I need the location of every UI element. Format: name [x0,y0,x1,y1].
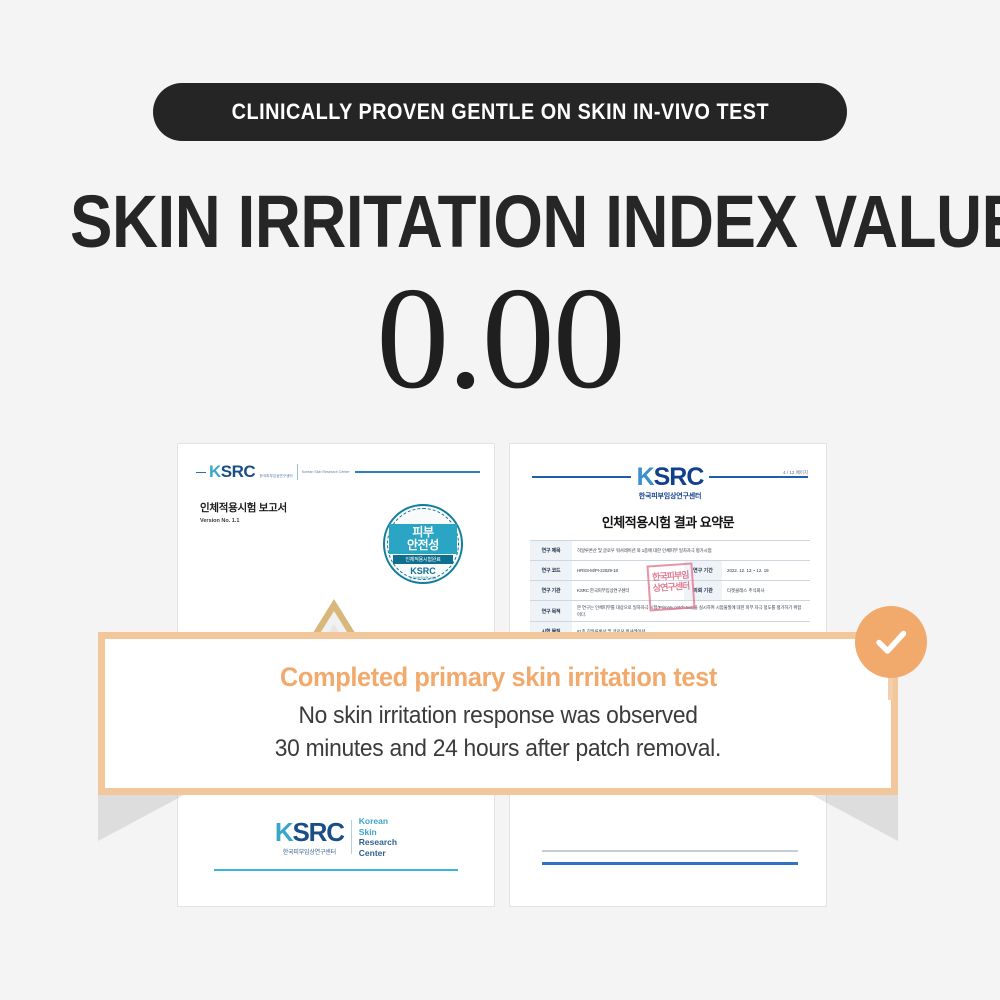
row-value-secondary: 티젯클래스 주식회사 [722,581,810,600]
row-label: 연구 코드 [530,561,572,580]
callout-shadow-left [98,795,184,841]
ksrc-korean-name: 한국피부임상연구센터 [260,474,293,478]
left-doc-footer-logo: KSRC 한국피부임상연구센터 Korean Skin Research Cen… [178,816,494,858]
official-stamp: 한국피부임상연구센터 [646,562,695,611]
skin-safety-seal: 피부안전성 인체적용시험완료 KSRC 한국피부임상연구센터 [383,504,463,584]
result-callout: Completed primary skin irritation test N… [98,632,898,795]
table-row: 연구 제목 히알루론산 및 글로우 워셔레이션 외 1종에 대한 인체피부 일차… [530,540,810,560]
left-doc-title: 인체적용시험 보고서 [200,500,287,515]
footer-korean-name: 한국피부임상연구센터 [275,847,344,856]
right-doc-footer-rule-top [542,850,798,852]
left-doc-footer-rule [214,869,458,871]
irritation-index-value: 0.00 [0,258,1000,418]
clinical-proof-badge-label: CLINICALLY PROVEN GENTLE ON SKIN IN-VIVO… [231,99,769,125]
row-label: 연구 기관 [530,581,572,600]
logo-divider [297,464,298,480]
seal-logo: KSRC 한국피부임상연구센터 [383,566,463,580]
footer-logo-divider [351,820,352,854]
clinical-proof-badge: CLINICALLY PROVEN GENTLE ON SKIN IN-VIVO… [153,83,847,141]
callout-shadow-right [812,795,898,841]
right-doc-header: KSRC 한국피부임상연구센터 4 / 12 페이지 [532,464,808,504]
page-number-mark: 4 / 12 페이지 [783,470,808,476]
logo-rule-left [196,472,206,473]
right-doc-footer-rule-bottom [542,862,798,865]
infographic-page: CLINICALLY PROVEN GENTLE ON SKIN IN-VIVO… [0,0,1000,1000]
seal-strip-text: 인체적용시험완료 [393,555,453,564]
page-title: SKIN IRRITATION INDEX VALUE [70,182,930,262]
seal-main-text: 피부안전성 [389,524,457,554]
ksrc-english-name: Korean Skin Research Center [302,470,350,475]
callout-line-1: No skin irritation response was observed [298,699,697,732]
row-label: 연구 제목 [530,541,572,560]
footer-english-name: Korean Skin Research Center [359,816,397,858]
logo-rule-right [355,471,480,472]
callout-title: Completed primary skin irritation test [279,662,716,693]
ksrc-wordmark: KSRC 한국피부임상연구센터 [209,462,293,482]
right-doc-title: 인체적용시험 결과 요약문 [510,512,826,531]
left-doc-version: Version No. 1.1 [200,518,239,524]
callout-line-2: 30 minutes and 24 hours after patch remo… [275,732,721,765]
right-ksrc-korean: 한국피부임상연구센터 [532,491,808,501]
row-value: 히알루론산 및 글로우 워셔레이션 외 1종에 대한 인체피부 일차자극 평가시… [572,541,810,560]
row-label: 연구 목적 [530,601,572,621]
right-ksrc-logo: KSRC 한국피부임상연구센터 [532,464,808,501]
ksrc-header-logo: KSRC 한국피부임상연구센터 Korean Skin Research Cen… [196,462,480,482]
check-icon [855,606,927,678]
row-value-secondary: 2022. 12. 13 ~ 12. 19 [722,561,810,580]
